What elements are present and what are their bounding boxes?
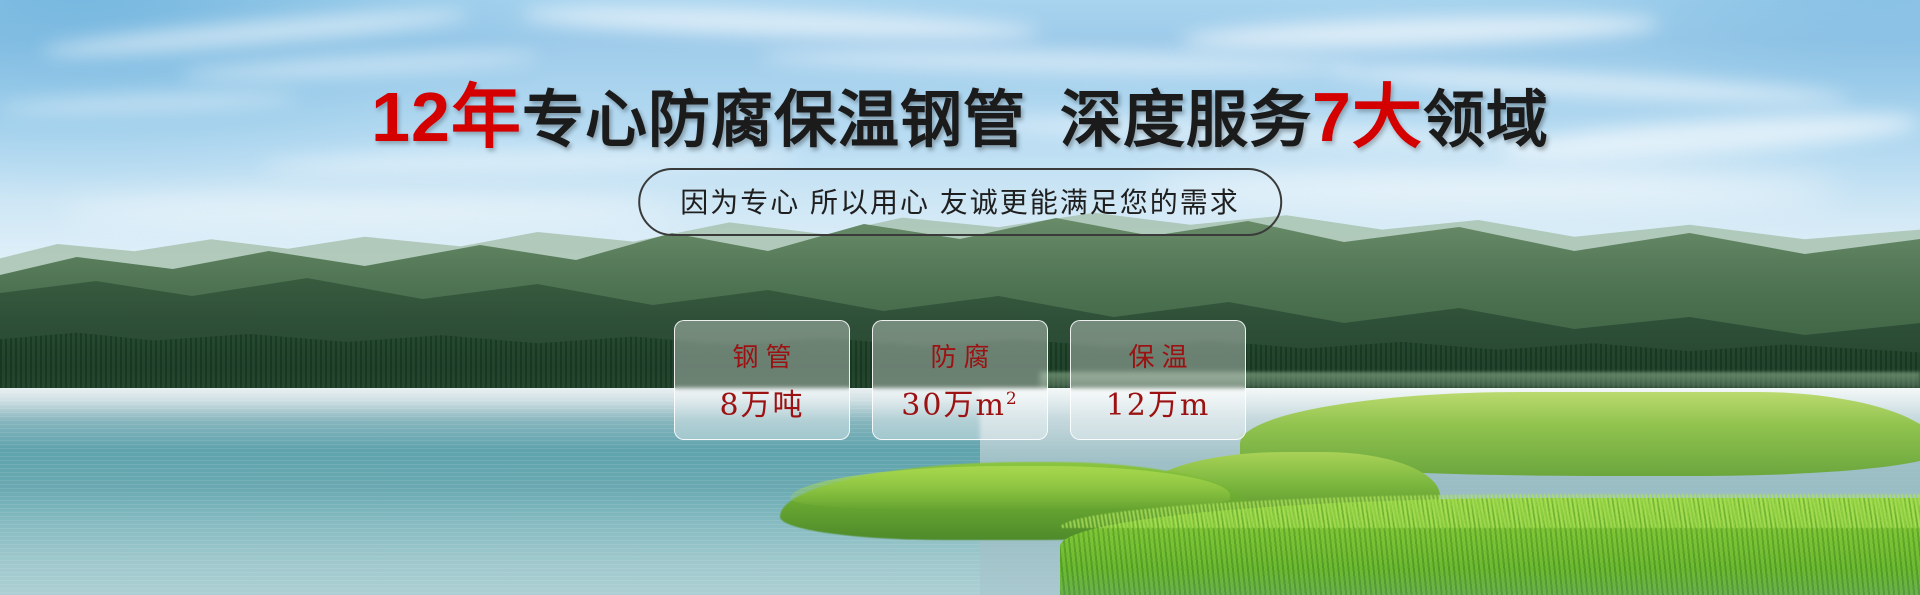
headline-years-highlight: 12年 <box>371 78 522 156</box>
stat-card-group: 钢管 8万吨 防腐 30万m2 保温 12万m <box>674 320 1246 440</box>
stat-card-value-number: 12万m <box>1106 388 1211 423</box>
bottom-vignette <box>0 569 1920 595</box>
stat-card-value-number: 8万吨 <box>719 388 804 423</box>
stat-card-steel-pipe: 钢管 8万吨 <box>674 320 850 440</box>
cloud-wisp <box>60 196 680 226</box>
headline-part-fields: 领域 <box>1423 86 1549 155</box>
banner-subtitle-pill: 因为专心 所以用心 友诚更能满足您的需求 <box>638 168 1282 236</box>
stat-card-anticorrosion: 防腐 30万m2 <box>872 320 1048 440</box>
stat-card-value-superscript: 2 <box>1006 389 1019 409</box>
headline-seven-highlight: 7大 <box>1312 78 1423 156</box>
stat-card-title: 防腐 <box>923 337 996 374</box>
hero-banner: 12年专心防腐保温钢管深度服务7大领域 因为专心 所以用心 友诚更能满足您的需求… <box>0 0 1920 595</box>
stat-card-value-number: 30万m <box>901 388 1006 423</box>
stat-card-value: 8万吨 <box>719 380 804 424</box>
stat-card-insulation: 保温 12万m <box>1070 320 1246 440</box>
headline-part-focus: 专心防腐保温钢管 <box>522 86 1026 155</box>
banner-headline: 12年专心防腐保温钢管深度服务7大领域 <box>0 82 1920 152</box>
stat-card-title: 钢管 <box>725 337 798 374</box>
stat-card-title: 保温 <box>1121 337 1194 374</box>
stat-card-value: 12万m <box>1106 380 1211 424</box>
headline-part-service: 深度服务 <box>1060 86 1312 155</box>
stat-card-value: 30万m2 <box>901 380 1018 424</box>
